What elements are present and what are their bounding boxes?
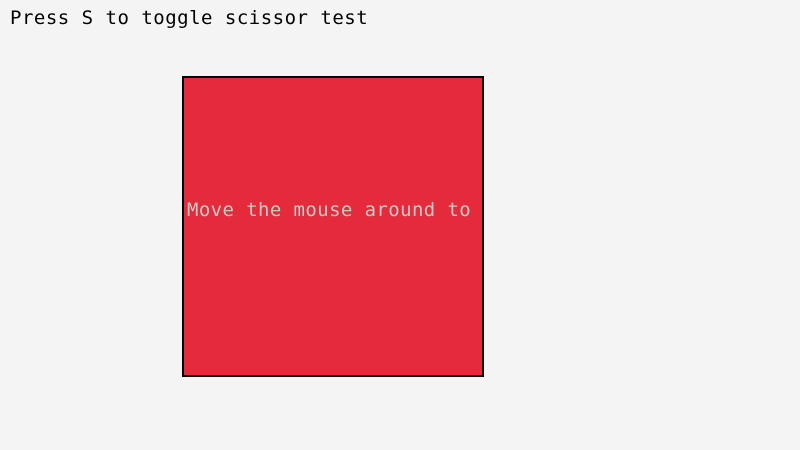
scissor-clipped-message: Move the mouse around to reveal this tex… bbox=[187, 198, 484, 222]
scissor-region[interactable]: Move the mouse around to reveal this tex… bbox=[182, 76, 484, 377]
app-canvas: Press S to toggle scissor test Move the … bbox=[0, 0, 800, 450]
scissor-toggle-hint: Press S to toggle scissor test bbox=[10, 6, 368, 30]
